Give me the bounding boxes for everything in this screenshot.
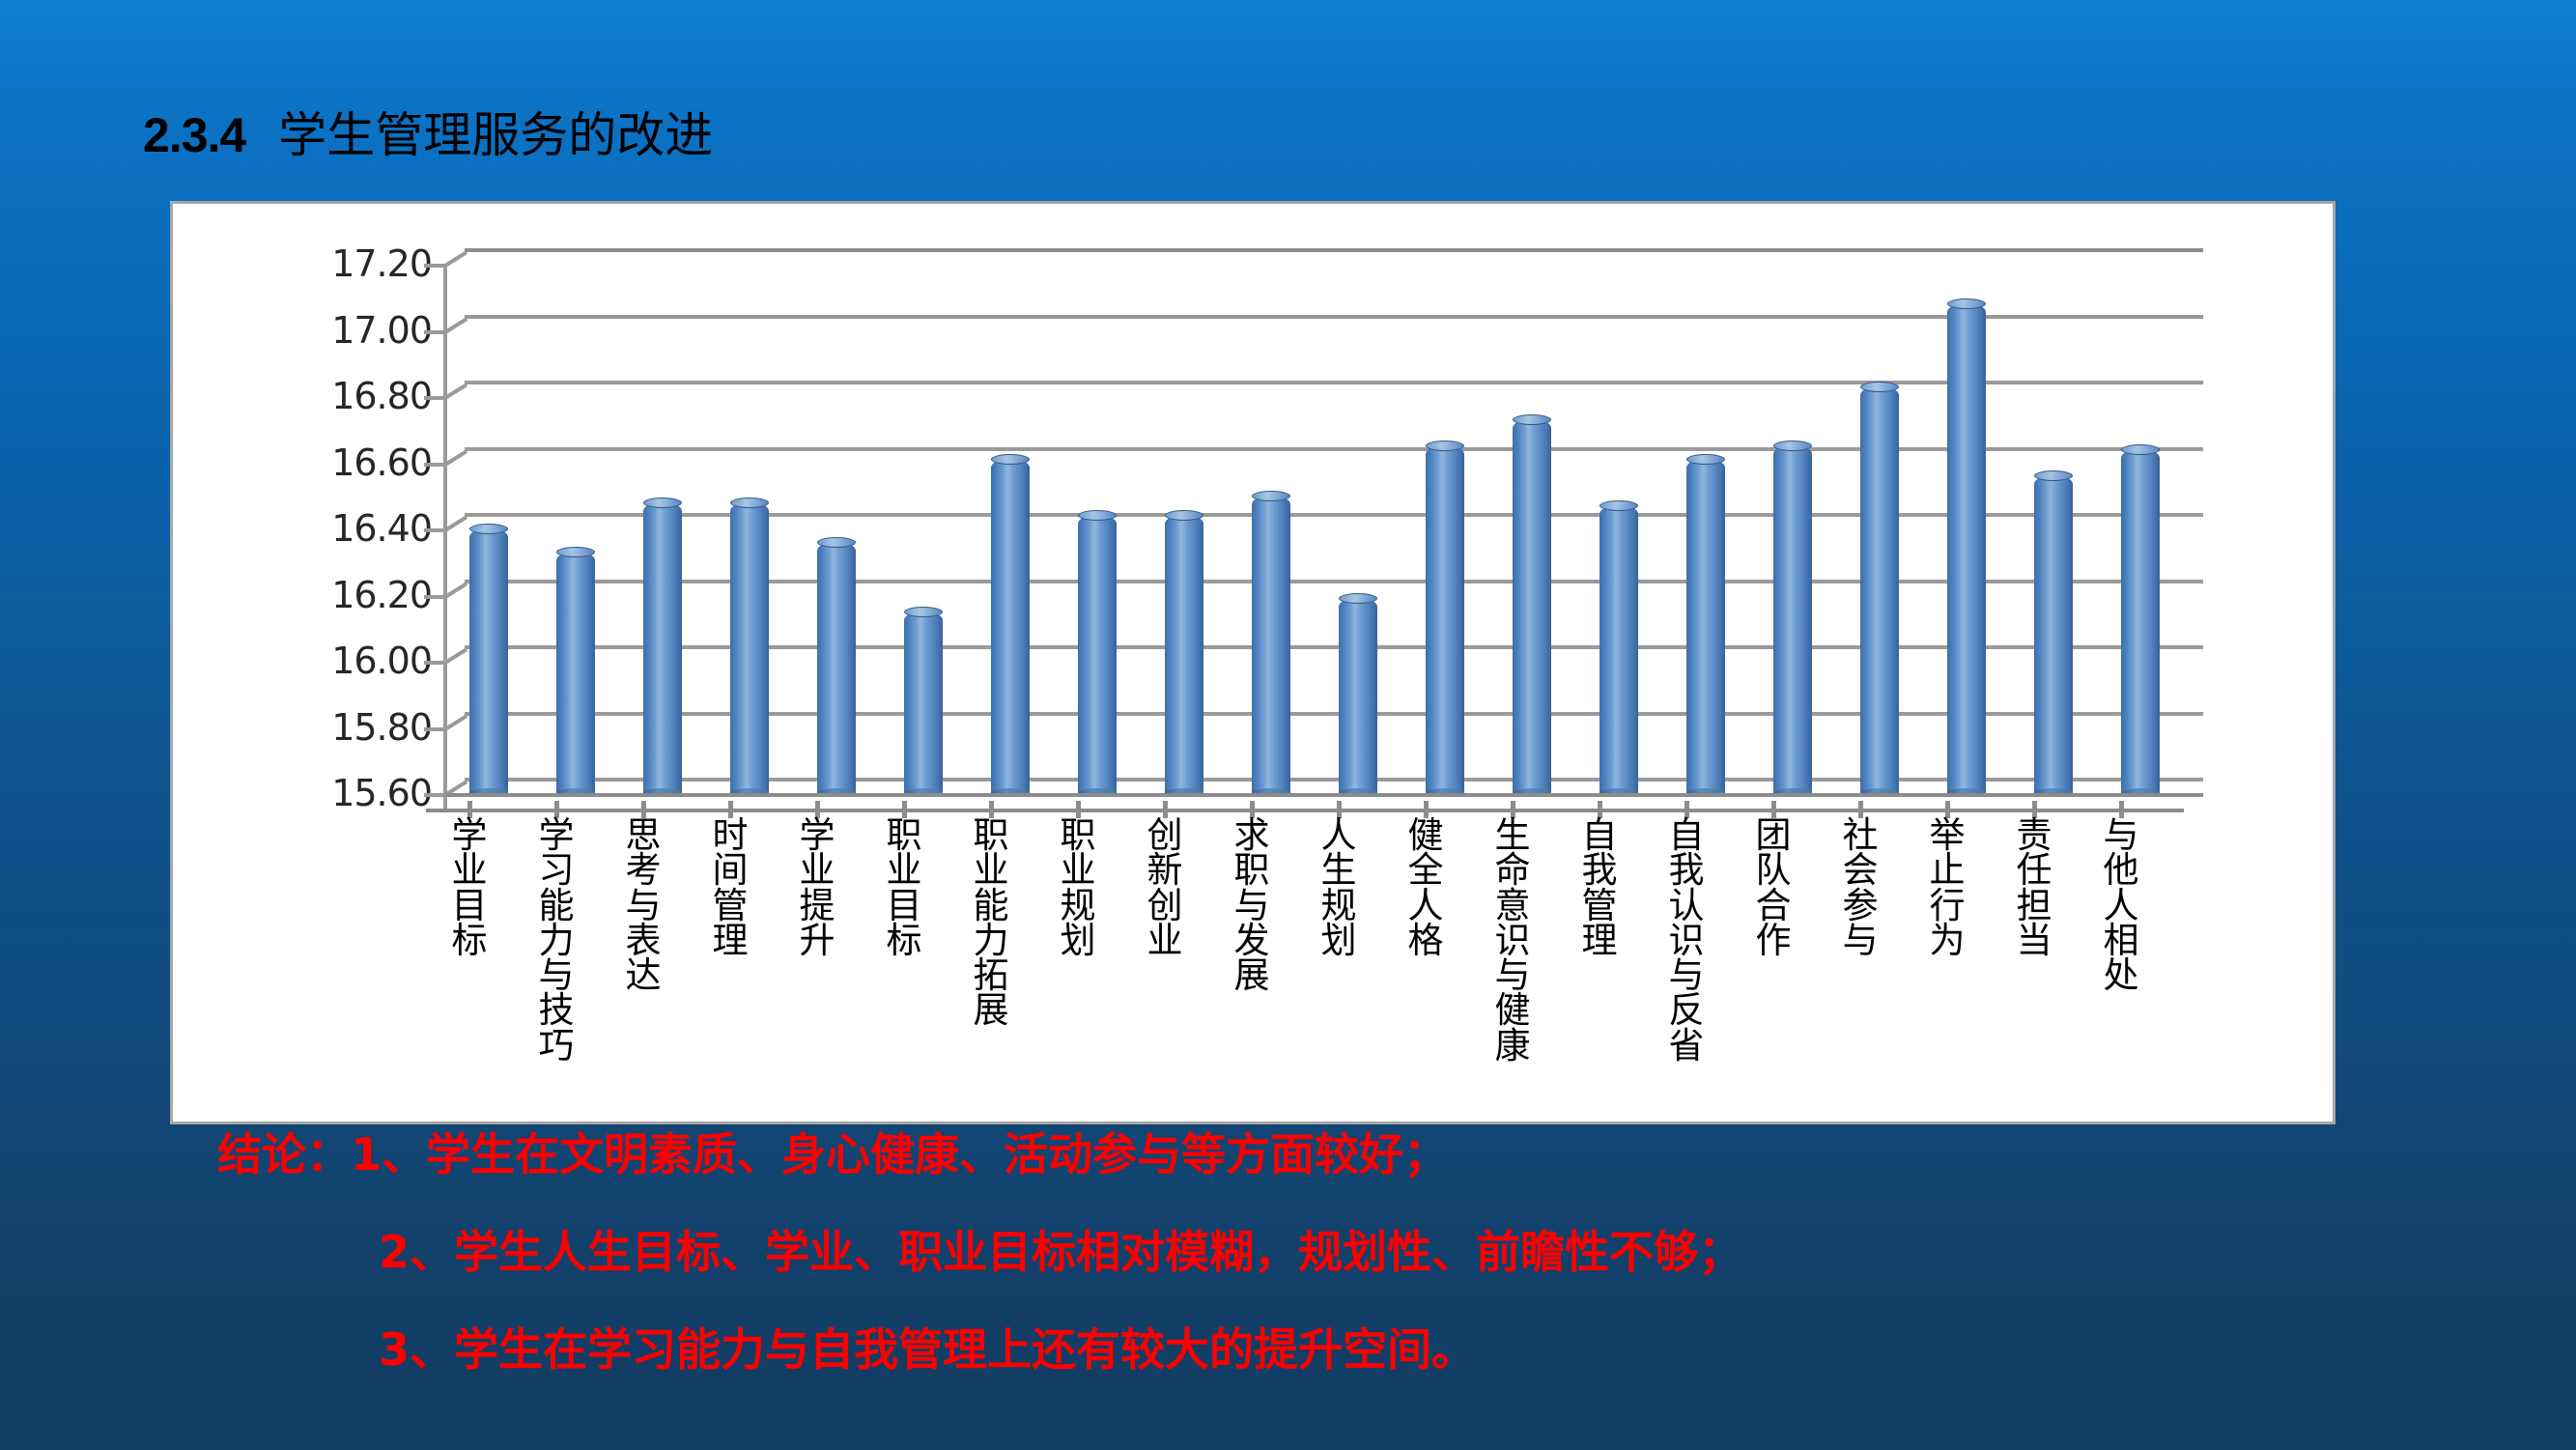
x-axis-category-label: 社会参与 [1841,818,1880,958]
x-axis-category-label: 责任担当 [2015,818,2053,958]
chart-bar [730,264,769,793]
y-axis-tick-labels: 17.2017.0016.8016.6016.4016.2016.0015.80… [248,204,432,1122]
x-axis-category-label: 健全人格 [1406,818,1445,958]
conclusion-line-1: 结论：1、学生在文明素质、身心健康、活动参与等方面较好； [217,1132,1448,1177]
chart-bar-cylinder [1426,445,1464,793]
chart-bar [1686,264,1725,793]
chart-bar-cylinder [1947,303,1986,793]
x-axis-category-label: 举止行为 [1928,818,1967,958]
x-axis-category-label: 人生规划 [1319,818,1358,958]
chart-bar [1426,264,1464,793]
x-axis-category-label: 职业能力拓展 [972,818,1010,1029]
x-axis-category-label: 职业目标 [885,818,923,958]
x-axis-category-label: 创新创业 [1146,818,1184,958]
chart-bar [1773,264,1812,793]
chart-plot-wrapper: 17.2017.0016.8016.6016.4016.2016.0015.80… [173,204,2333,1122]
y-axis-tick-label: 16.60 [258,441,432,484]
y-axis-tick-label: 17.20 [258,242,432,285]
y-axis-tick-label: 16.80 [258,375,432,417]
chart-bar [643,264,682,793]
chart-bar-cylinder [2121,449,2160,793]
y-axis-tick-label: 15.60 [258,772,432,814]
chart-container: 17.2017.0016.8016.6016.4016.2016.0015.80… [170,201,2335,1124]
chart-bar-series [445,264,2184,793]
x-axis-category-label: 思考与表达 [624,818,663,993]
chart-bar-cylinder [991,459,1030,793]
chart-bar-cylinder [817,542,856,793]
x-axis-category-label: 自我管理 [1580,818,1619,958]
chart-gridline [465,248,2203,252]
x-axis-category-label: 职业规划 [1059,818,1097,958]
chart-bar [1252,264,1290,793]
chart-bar [817,264,856,793]
y-axis-tick-label: 16.20 [258,574,432,616]
chart-bar [556,264,595,793]
page-title-number: 2.3.4 [143,108,245,162]
chart-bar-cylinder [1165,515,1203,793]
chart-bar [1947,264,1986,793]
x-axis-category-label: 自我认识与反省 [1667,818,1706,1064]
chart-bar-cylinder [643,502,682,793]
x-axis-category-label: 生命意识与健康 [1493,818,1532,1064]
chart-bar [1599,264,1638,793]
chart-bar-cylinder [556,552,595,793]
chart-bar [991,264,1030,793]
chart-bar [1860,264,1899,793]
x-axis-category-label: 学业提升 [798,818,836,958]
chart-bar-cylinder [1339,598,1377,793]
x-axis-category-labels: 学业目标学习能力与技巧思考与表达时间管理学业提升职业目标职业能力拓展职业规划创新… [445,818,2184,1108]
chart-bar-cylinder [904,611,943,793]
conclusion-line-3: 3、学生在学习能力与自我管理上还有较大的提升空间。 [379,1327,1476,1372]
chart-bar [1339,264,1377,793]
x-axis-category-label: 求职与发展 [1232,818,1271,993]
chart-bar [1165,264,1203,793]
page-title-text: 学生管理服务的改进 [278,107,713,163]
chart-bar-cylinder [1860,386,1899,793]
chart-floor-back [445,793,2203,797]
y-axis-tick-label: 16.00 [258,640,432,682]
chart-bar [469,264,508,793]
chart-bar-cylinder [730,502,769,793]
chart-bar [904,264,943,793]
x-axis-category-label: 与他人相处 [2102,818,2140,993]
x-axis-category-label: 团队合作 [1754,818,1793,958]
chart-bar [1078,264,1117,793]
chart-bar-cylinder [1513,419,1551,793]
chart-bar [2121,264,2160,793]
chart-bar-cylinder [1599,505,1638,793]
conclusion-line-2: 2、学生人生目标、学业、职业目标相对模糊，规划性、前瞻性不够； [379,1230,1742,1274]
chart-bar-cylinder [469,528,508,793]
chart-bar-cylinder [2034,475,2073,793]
chart-floor-front [426,809,2184,812]
chart-bar-cylinder [1078,515,1117,793]
y-axis-tick-label: 15.80 [258,706,432,749]
chart-bar [2034,264,2073,793]
x-axis-category-label: 时间管理 [711,818,750,958]
chart-bar-cylinder [1773,445,1812,793]
chart-bar [1513,264,1551,793]
chart-plot-area [445,264,2184,793]
y-axis-tick-label: 17.00 [258,309,432,352]
page-title: 2.3.4学生管理服务的改进 [143,97,713,166]
chart-bar-cylinder [1686,459,1725,793]
x-axis-category-label: 学习能力与技巧 [537,818,576,1064]
y-axis-tick-label: 16.40 [258,507,432,550]
chart-bar-cylinder [1252,496,1290,793]
x-axis-category-label: 学业目标 [450,818,489,958]
